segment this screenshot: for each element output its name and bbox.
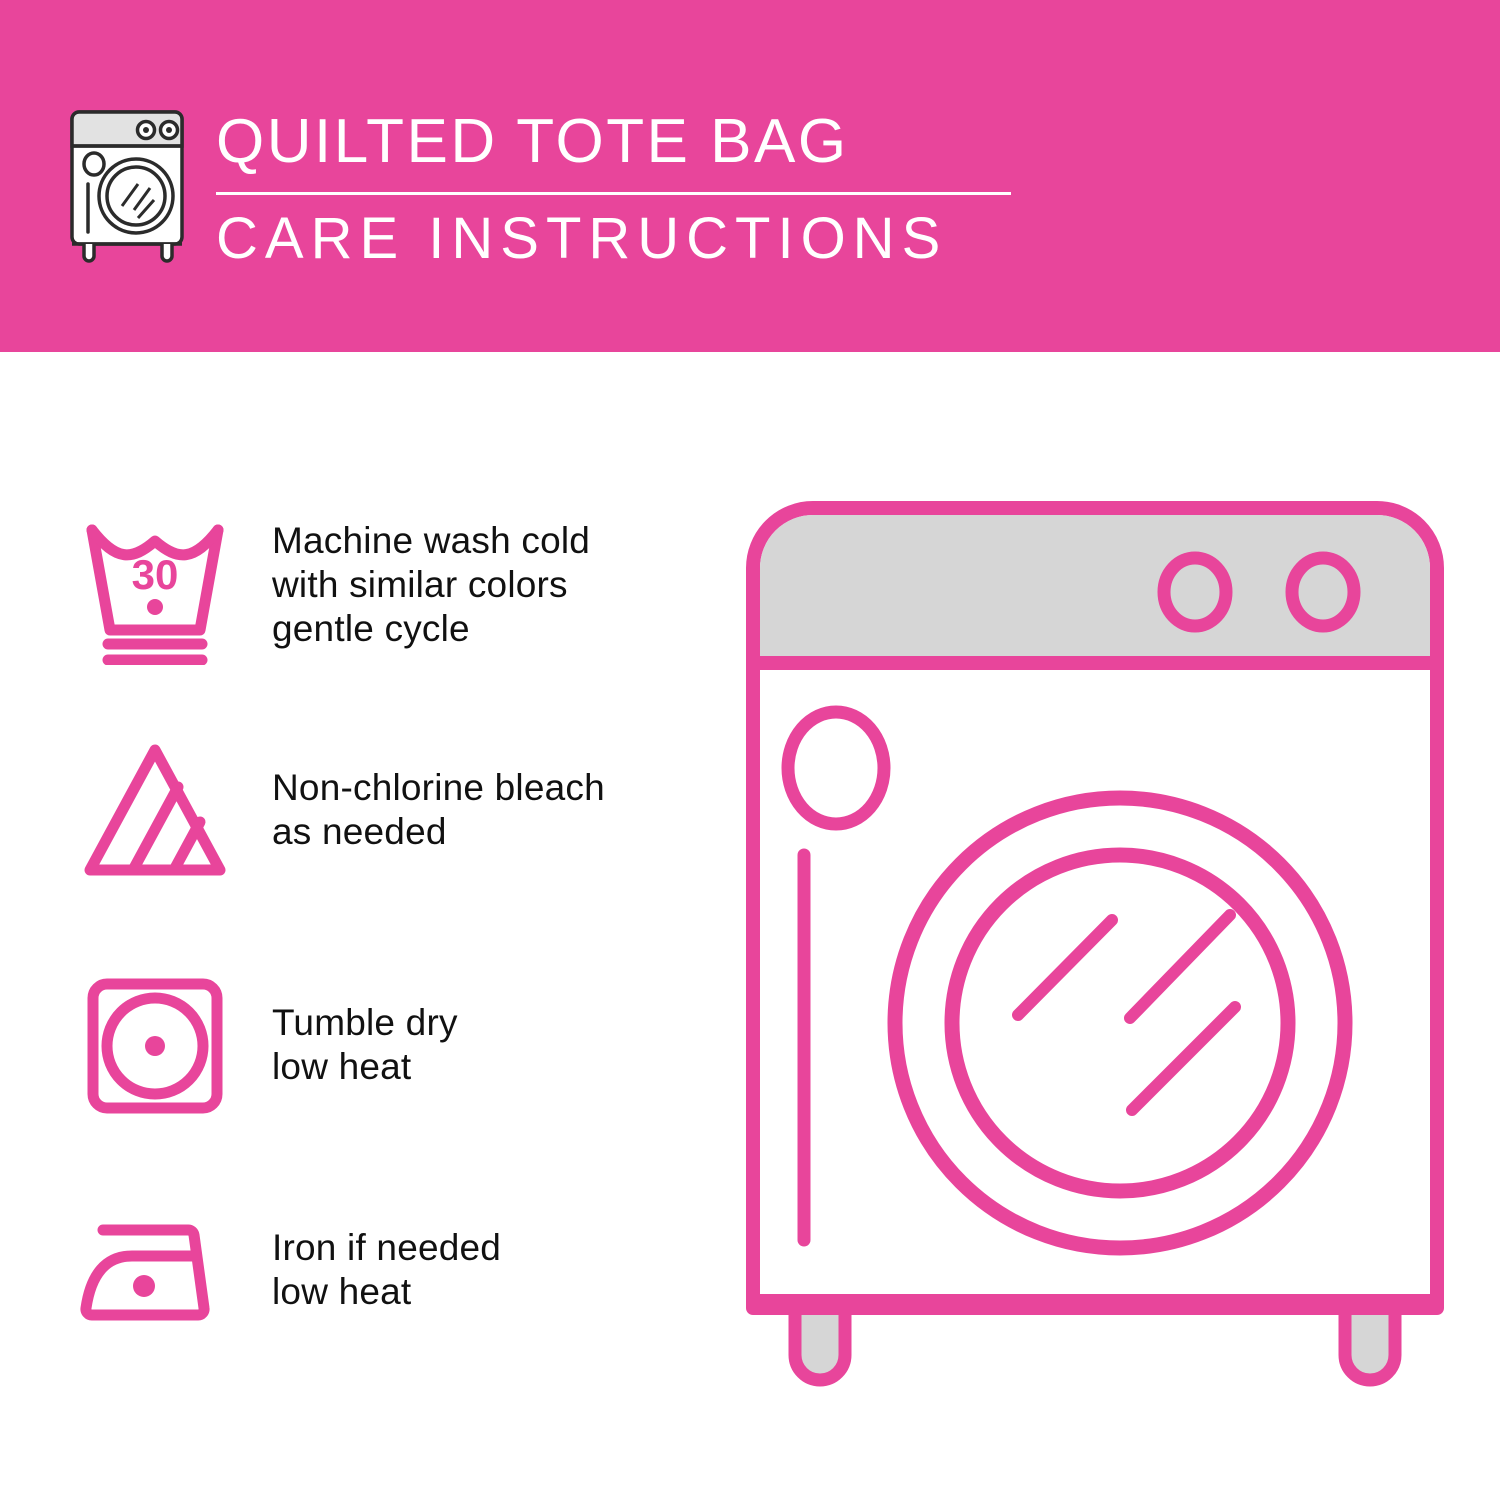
wash-temperature-value: 30: [132, 551, 179, 598]
washing-machine-icon: [64, 104, 196, 266]
care-item-bleach: Non-chlorine bleach as needed: [70, 730, 710, 890]
header-banner: QUILTED TOTE BAG CARE INSTRUCTIONS: [0, 0, 1500, 352]
care-text-line: as needed: [272, 810, 605, 854]
care-item-text: Non-chlorine bleach as needed: [272, 766, 605, 854]
header-text-block: QUILTED TOTE BAG CARE INSTRUCTIONS: [216, 106, 1016, 273]
care-text-line: Non-chlorine bleach: [272, 766, 605, 810]
care-text-line: Iron if needed: [272, 1226, 501, 1270]
non-chlorine-bleach-triangle-icon: [70, 730, 240, 890]
care-instructions-page: QUILTED TOTE BAG CARE INSTRUCTIONS 30: [0, 0, 1500, 1500]
care-item-iron: Iron if needed low heat: [70, 1190, 710, 1350]
care-text-line: with similar colors: [272, 563, 590, 607]
care-text-line: Machine wash cold: [272, 519, 590, 563]
header-divider: [216, 192, 1011, 195]
front-load-washing-machine-illustration: [740, 495, 1450, 1425]
care-item-text: Machine wash cold with similar colors ge…: [272, 519, 590, 651]
care-item-text: Tumble dry low heat: [272, 1001, 458, 1089]
page-title: QUILTED TOTE BAG: [216, 106, 1016, 178]
care-text-line: gentle cycle: [272, 607, 590, 651]
care-text-line: Tumble dry: [272, 1001, 458, 1045]
care-item-text: Iron if needed low heat: [272, 1226, 501, 1314]
care-item-machine-wash: 30 Machine wash cold with similar colors…: [70, 505, 710, 665]
wash-tub-30-gentle-icon: 30: [70, 505, 240, 665]
care-item-tumble-dry: Tumble dry low heat: [70, 965, 710, 1125]
tumble-dry-low-icon: [70, 965, 240, 1125]
care-text-line: low heat: [272, 1045, 458, 1089]
iron-low-heat-icon: [70, 1190, 240, 1350]
page-subtitle: CARE INSTRUCTIONS: [216, 205, 1016, 273]
care-text-line: low heat: [272, 1270, 501, 1314]
